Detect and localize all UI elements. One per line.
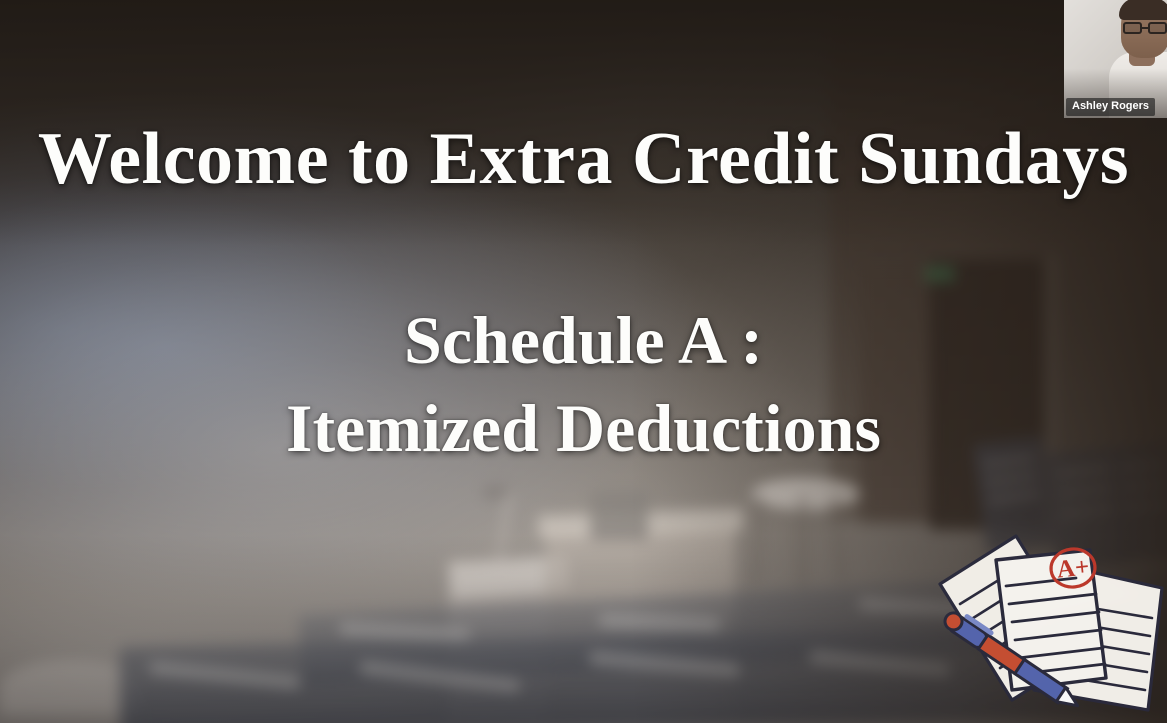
graded-papers-illustration: A+ bbox=[930, 528, 1167, 723]
participant-video-thumbnail[interactable]: Ashley Rogers bbox=[1064, 0, 1167, 118]
svg-text:A+: A+ bbox=[1056, 553, 1091, 583]
participant-name-label: Ashley Rogers bbox=[1066, 98, 1155, 116]
zoom-screen-share-view: Welcome to Extra Credit Sundays Schedule… bbox=[0, 0, 1167, 723]
